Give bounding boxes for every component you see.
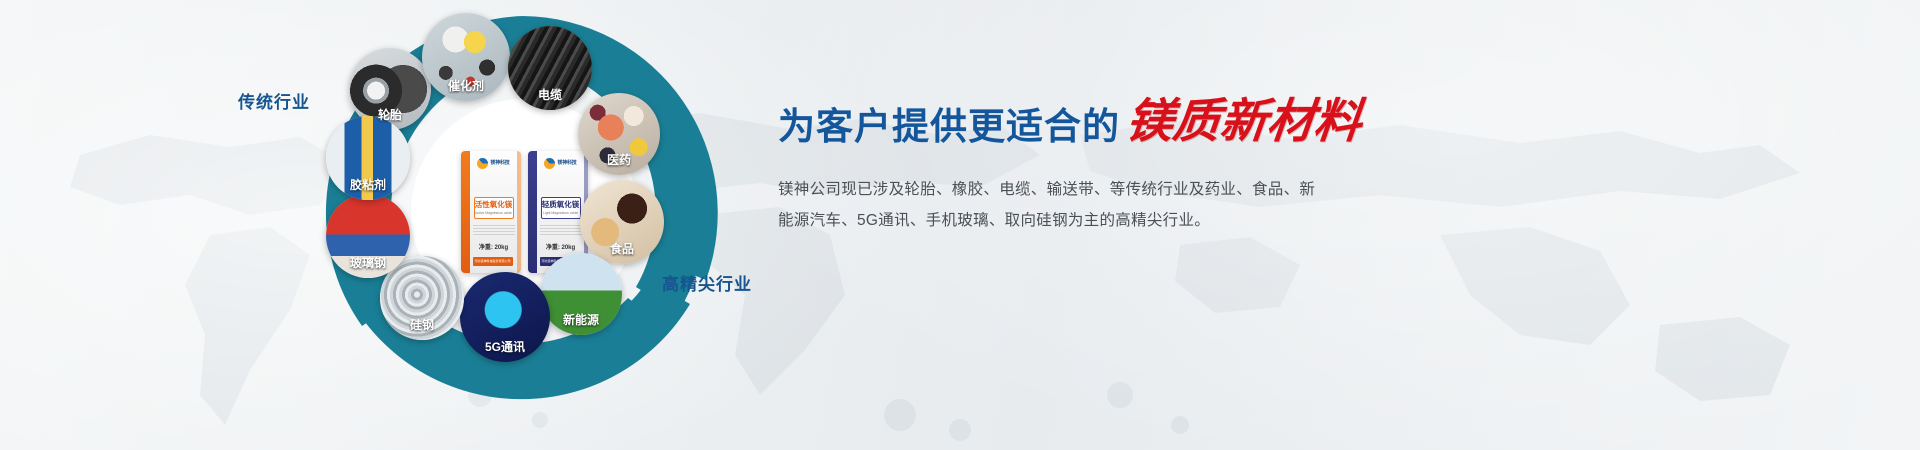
node-frp[interactable]: 玻璃钢 bbox=[326, 194, 410, 278]
banner-paragraph: 镁神公司现已涉及轮胎、橡胶、电缆、输送带、等传统行业及药业、食品、新 能源汽车、… bbox=[778, 174, 1478, 236]
bag-fine-print bbox=[473, 225, 515, 235]
headline-red-text: 镁质新材料 bbox=[1124, 100, 1364, 145]
headline: 为客户提供更适合的 镁质新材料 bbox=[778, 100, 1598, 145]
bag-spine-icon bbox=[461, 151, 470, 273]
node-label: 5G通讯 bbox=[485, 338, 525, 362]
bag-title-box: 活性氧化镁 Active Magnesium oxide bbox=[474, 197, 514, 219]
node-pharmaceutical[interactable]: 医药 bbox=[578, 93, 660, 175]
node-food[interactable]: 食品 bbox=[580, 180, 664, 264]
product-bag-active-mgo: 镁神科技 活性氧化镁 Active Magnesium oxide 净重: 20… bbox=[461, 151, 521, 273]
paragraph-line-2: 能源汽车、5G通讯、手机玻璃、取向硅钢为主的高精尖行业。 bbox=[778, 205, 1478, 236]
bag-spine-right-icon bbox=[517, 151, 521, 273]
product-company: 河北镁神科技股份有限公司 bbox=[473, 257, 513, 266]
bag-fine-print bbox=[540, 225, 582, 235]
headline-blue-text: 为客户提供更适合的 bbox=[778, 108, 1120, 145]
node-new-energy[interactable]: 新能源 bbox=[540, 253, 622, 335]
product-weight: 净重: 20kg bbox=[546, 242, 575, 251]
brand-logo: 镁神科技 bbox=[477, 158, 509, 169]
node-5g[interactable]: 5G通讯 bbox=[460, 272, 550, 362]
node-label: 催化剂 bbox=[448, 77, 484, 101]
node-label: 玻璃钢 bbox=[350, 254, 386, 278]
bag-title-box: 轻质氧化镁 Light Magnesium oxide bbox=[541, 197, 581, 219]
node-label: 新能源 bbox=[563, 311, 599, 335]
node-label: 轮胎 bbox=[378, 106, 402, 130]
product-name-cn: 轻质氧化镁 bbox=[542, 201, 580, 210]
node-label: 硅钢 bbox=[410, 316, 434, 340]
caption-traditional-industry: 传统行业 bbox=[238, 88, 310, 113]
caption-high-tech-industry: 高精尖行业 bbox=[662, 270, 752, 295]
brand-name: 镁神科技 bbox=[490, 161, 509, 166]
product-name-cn: 活性氧化镁 bbox=[475, 201, 513, 210]
product-weight: 净重: 20kg bbox=[479, 242, 508, 251]
brand-mark-icon bbox=[477, 158, 488, 169]
brand-logo: 镁神科技 bbox=[544, 158, 576, 169]
banner-copy: 为客户提供更适合的 镁质新材料 镁神公司现已涉及轮胎、橡胶、电缆、输送带、等传统… bbox=[778, 100, 1598, 236]
node-label: 食品 bbox=[610, 240, 634, 264]
node-label: 电缆 bbox=[538, 86, 562, 110]
node-label: 胶粘剂 bbox=[350, 176, 386, 200]
bag-spine-icon bbox=[528, 151, 537, 273]
paragraph-line-1: 镁神公司现已涉及轮胎、橡胶、电缆、输送带、等传统行业及药业、食品、新 bbox=[778, 174, 1478, 205]
product-name-en: Active Magnesium oxide bbox=[475, 211, 513, 215]
industry-infographic: 镁神科技 活性氧化镁 Active Magnesium oxide 净重: 20… bbox=[318, 8, 728, 408]
node-catalyst[interactable]: 催化剂 bbox=[422, 13, 510, 101]
product-name-en: Light Magnesium oxide bbox=[542, 211, 580, 215]
brand-mark-icon bbox=[544, 158, 555, 169]
node-label: 医药 bbox=[607, 151, 631, 175]
brand-name: 镁神科技 bbox=[557, 161, 576, 166]
